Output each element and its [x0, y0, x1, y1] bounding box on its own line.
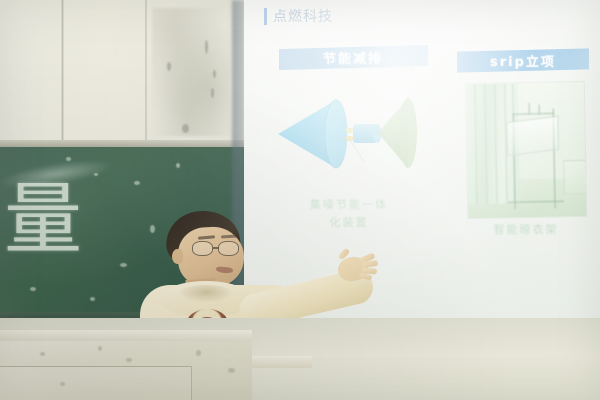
- wall-seam-secondary: [145, 0, 147, 146]
- drying-rack-photo: [466, 82, 587, 218]
- slide-title-accent-bar: [264, 8, 267, 25]
- slide-title: 点燃科技: [264, 6, 333, 26]
- photo-rack-hanger: [538, 105, 540, 115]
- wall-mark: [213, 70, 216, 78]
- eyeglass-lens-left: [192, 241, 213, 256]
- slide-banner-label: srip立项: [490, 51, 556, 70]
- right-panel-caption: 智能晾衣架: [467, 221, 585, 237]
- photo-rack-tray: [506, 116, 559, 156]
- wall-mark: [182, 124, 189, 133]
- eyeglasses: [192, 241, 244, 257]
- eyeglass-bridge: [213, 247, 219, 249]
- wall-mark: [167, 62, 171, 71]
- slide-title-text: 点燃科技: [273, 6, 333, 26]
- podium-shelf: [250, 356, 312, 368]
- presenter-ear: [172, 249, 183, 264]
- cone-assembly-diagram: [274, 86, 424, 176]
- wall-mark: [205, 40, 208, 54]
- photo-rack-hanger: [528, 103, 530, 115]
- chalkboard-character: 量: [4, 176, 78, 268]
- photo-content: [466, 82, 587, 218]
- presenter-hand: [332, 249, 378, 283]
- wall-smudge: [152, 8, 230, 136]
- wall-seam: [61, 0, 64, 146]
- cone-diagram-svg: [274, 86, 424, 176]
- photo-side-table: [563, 160, 586, 194]
- classroom-photo: 量 点燃科技 节能减排: [0, 0, 600, 400]
- eyeglass-lens-right: [218, 241, 239, 256]
- slide-banner-srip: srip立项: [457, 48, 589, 72]
- wall-mark: [211, 88, 214, 98]
- diagram-annotation: 升压、自动除冰装置: [344, 63, 430, 72]
- podium-front-panel: [0, 366, 192, 400]
- hood-shadow: [178, 285, 234, 303]
